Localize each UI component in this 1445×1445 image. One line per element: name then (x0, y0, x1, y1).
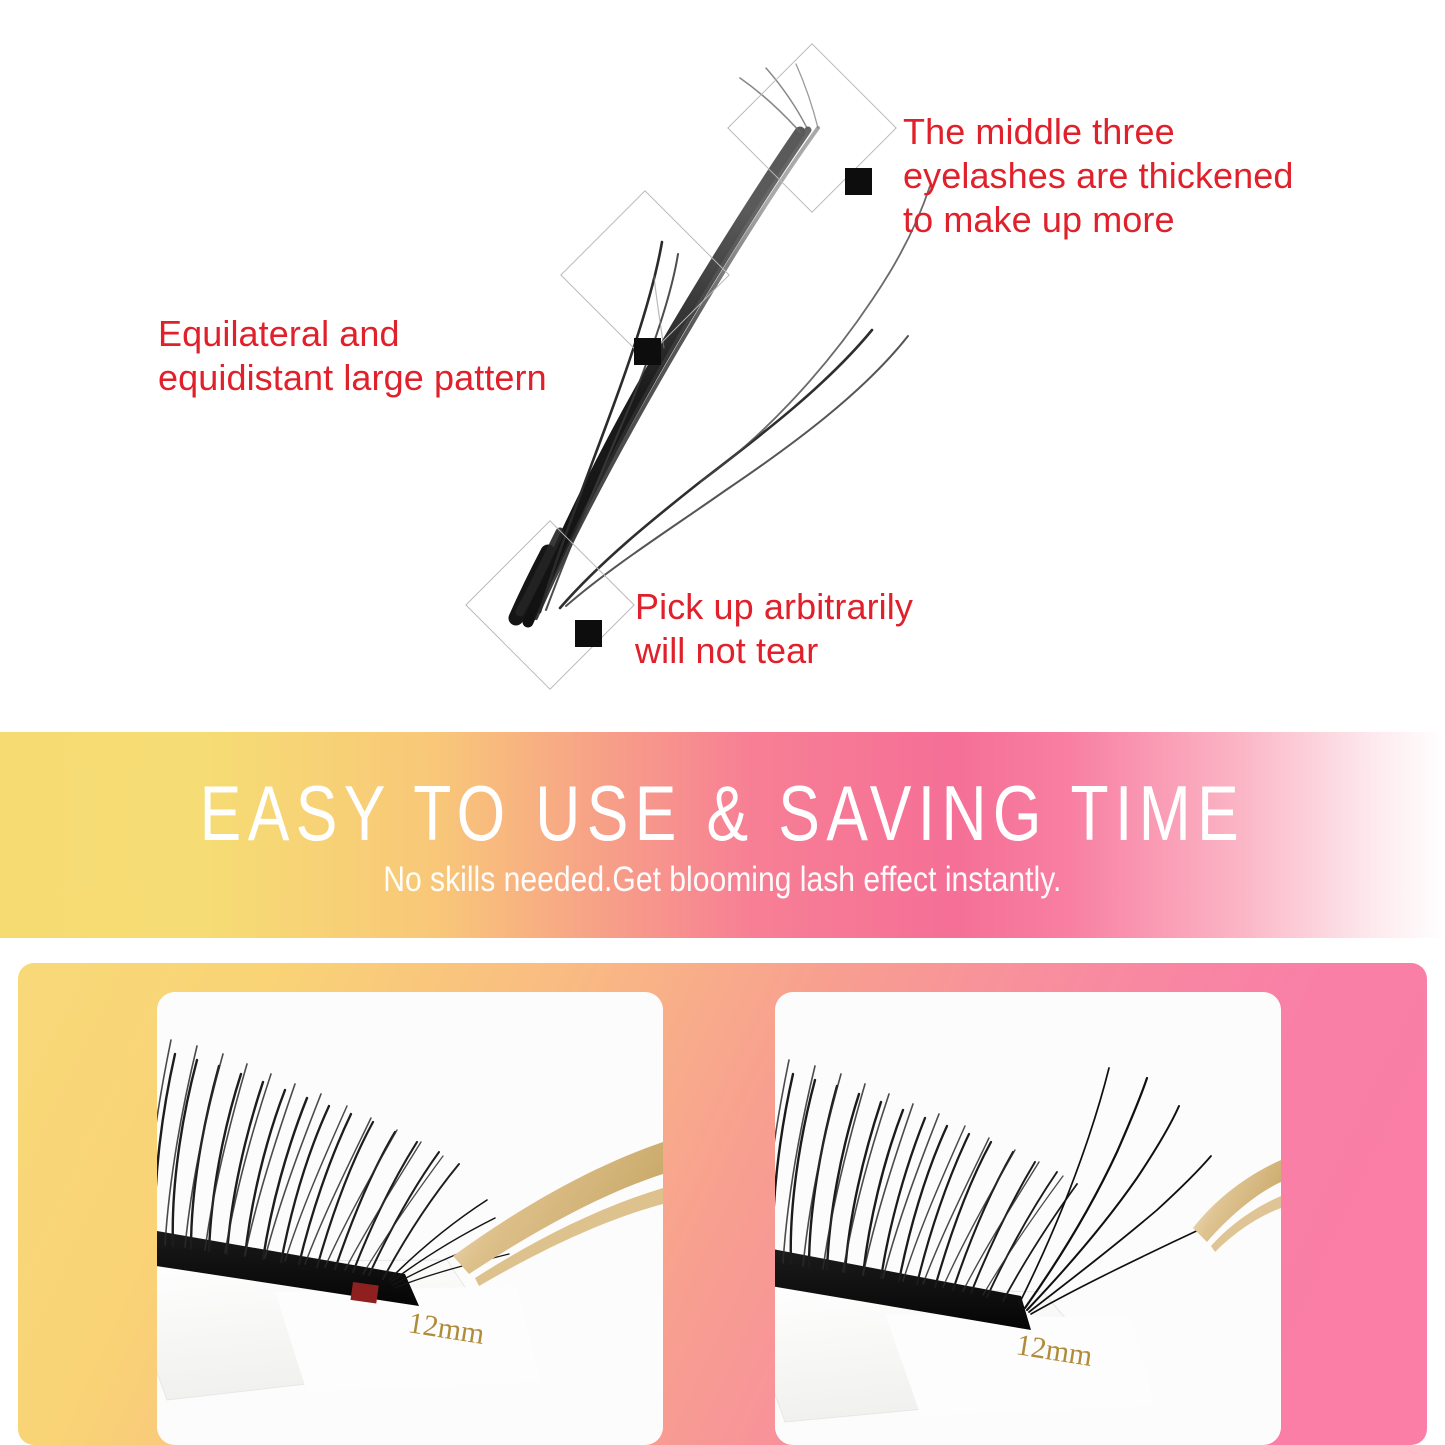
lash-strip-photo: 12mm (157, 992, 663, 1445)
callout-text-equilateral: Equilateral and equidistant large patter… (158, 312, 547, 400)
product-photo-panel: 12mm (18, 963, 1427, 1445)
photo-card-lash-fan-pickup: 12mm (775, 992, 1281, 1445)
callout-marker-top (845, 168, 872, 195)
callout-marker-bottom (575, 620, 602, 647)
photo-card-lash-strip-tweezers: 12mm (157, 992, 663, 1445)
banner-subtitle: No skills needed.Get blooming lash effec… (383, 862, 1061, 897)
easy-to-use-banner: EASY TO USE & SAVING TIME No skills need… (0, 732, 1445, 938)
callout-marker-middle (634, 338, 661, 365)
lash-fan-photo: 12mm (775, 992, 1281, 1445)
callout-text-pick-up: Pick up arbitrarily will not tear (635, 585, 913, 673)
banner-title: EASY TO USE & SAVING TIME (200, 774, 1245, 852)
callout-text-middle-three: The middle three eyelashes are thickened… (903, 110, 1294, 242)
product-feature-diagram: The middle three eyelashes are thickened… (0, 0, 1445, 732)
